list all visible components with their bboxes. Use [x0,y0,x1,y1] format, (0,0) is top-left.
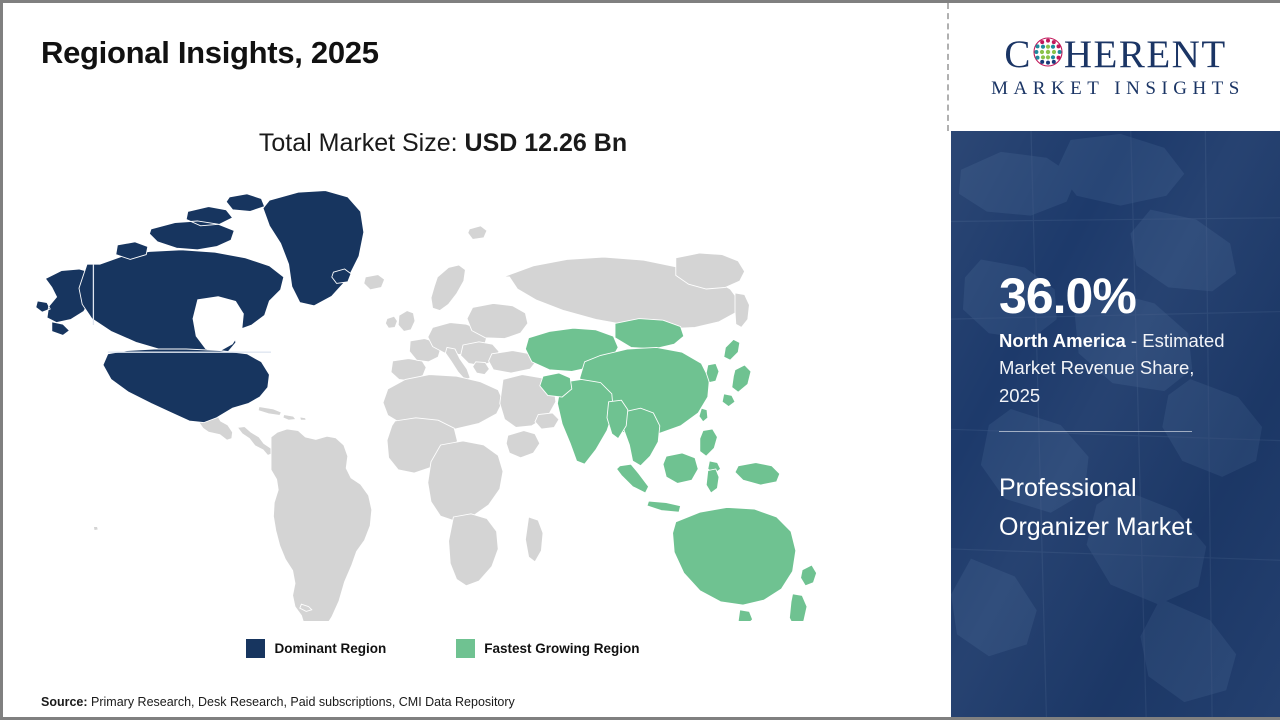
region-eastern-europe [467,303,528,338]
total-market-size: Total Market Size: USD 12.26 Bn [3,129,883,158]
stat-panel-content: 36.0% North America - Estimated Market R… [999,131,1280,717]
region-puerto-rico [300,417,306,420]
vertical-dashed-divider [947,3,949,131]
region-canada [79,250,284,357]
region-iceland [364,275,385,290]
logo-word-before: C [1004,35,1032,74]
total-market-size-value: USD 12.26 Bn [465,129,628,157]
total-market-size-label: Total Market Size: [259,129,458,157]
world-map-svg [31,181,831,621]
region-ireland [385,316,397,328]
region-horn-of-africa [506,431,540,458]
legend-label-dominant: Dominant Region [274,641,386,656]
stat-region-name: North America [999,330,1126,351]
stat-divider-line [999,431,1192,432]
map-legend: Dominant Region Fastest Growing Region [3,639,883,658]
region-canadian-arctic [116,194,265,260]
legend-item-dominant: Dominant Region [246,639,386,658]
fastest-growing-region-swatch [456,639,475,658]
dominant-region-north-america [36,191,364,423]
infographic-page: Regional Insights, 2025 Total Market Siz… [0,0,1280,720]
region-arabia-south [535,413,559,429]
region-australia [673,507,796,605]
source-note: Source: Primary Research, Desk Research,… [41,695,515,709]
region-korea [706,363,719,382]
region-southeast-asia [623,408,660,466]
region-tasmania [738,610,752,621]
legend-label-fastest-growing: Fastest Growing Region [484,641,639,656]
legend-item-fastest-growing: Fastest Growing Region [456,639,639,658]
stat-percentage: 36.0% [999,271,1136,321]
region-japan [722,339,751,406]
logo-word-after: HERENT [1064,35,1227,74]
region-cuba [258,407,281,416]
region-central-africa [428,441,503,521]
region-south-america [271,429,372,621]
region-united-states [103,349,269,423]
logo-tagline: MARKET INSIGHTS [986,78,1245,100]
region-uk [398,311,415,332]
region-svalbard [468,226,487,240]
coherent-globe-icon [1033,37,1063,71]
region-sulawesi [706,469,719,493]
region-philippines [700,429,721,474]
region-borneo [663,453,698,483]
region-scandinavia [431,265,465,311]
left-content-area: Regional Insights, 2025 Total Market Siz… [3,3,950,717]
region-southern-africa [449,514,499,586]
market-name: Professional Organizer Market [999,469,1229,547]
stat-panel: 36.0% North America - Estimated Market R… [951,131,1280,717]
fastest-growing-region-asia-pacific [525,319,816,621]
region-new-zealand [789,565,816,621]
stat-caption: North America - Estimated Market Revenue… [999,327,1237,409]
world-map [31,181,831,621]
logo-wordmark: C [1004,35,1226,74]
region-hispaniola [283,415,296,421]
page-title: Regional Insights, 2025 [41,35,379,71]
region-pacific-islet [93,527,98,531]
region-central-america [237,427,271,456]
brand-logo: C [951,3,1280,131]
region-kamchatka [735,293,749,327]
dominant-region-swatch [246,639,265,658]
region-java [647,501,681,512]
source-label: Source: [41,695,88,709]
source-text: Primary Research, Desk Research, Paid su… [88,695,515,709]
region-sumatra [617,464,649,493]
region-papua [735,463,780,485]
region-madagascar [525,517,543,562]
